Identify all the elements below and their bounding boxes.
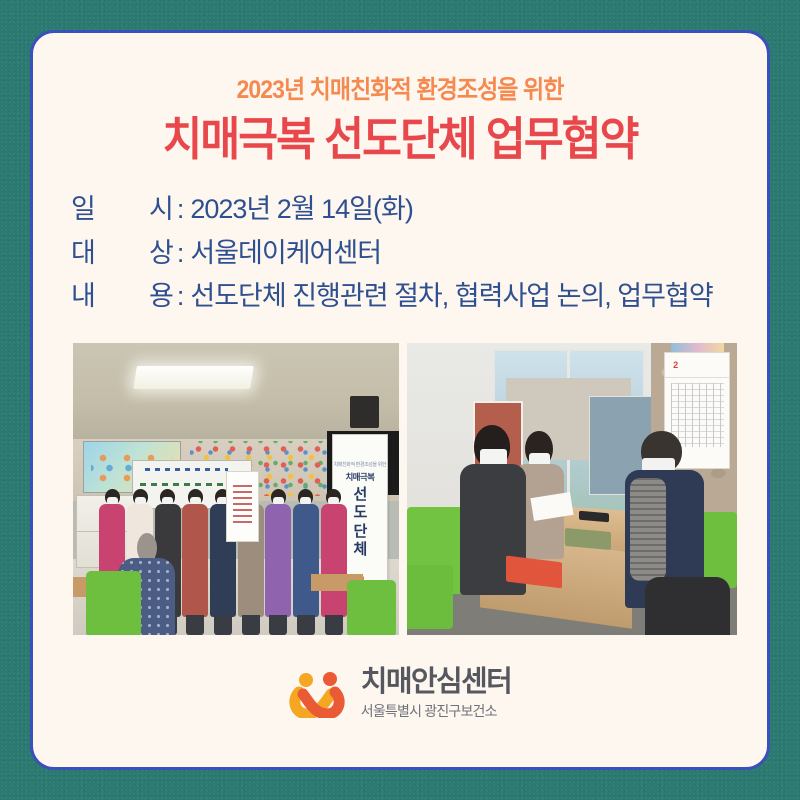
footer-logo: 치매안심센터 서울특별시 광진구보건소	[33, 667, 767, 721]
person	[182, 489, 209, 617]
person-seated-man-right	[625, 431, 704, 600]
detail-label: 내	[71, 275, 149, 319]
poster-heading: 2023년 치매친화적 환경조성을 위한 치매극복 선도단체 업무협약	[33, 75, 767, 170]
wall-speaker	[350, 396, 379, 428]
detail-colon: :	[173, 188, 191, 232]
poster-subtitle: 2023년 치매친화적 환경조성을 위한	[62, 75, 737, 106]
calendar-month: 2	[665, 353, 729, 378]
detail-list: 일 시 : 2023년 2월 14일(화) 대 상 : 서울데이케어센터 내 용…	[71, 188, 713, 319]
detail-value: 선도단체 진행관련 절차, 협력사업 논의, 업무협약	[190, 275, 712, 319]
detail-label: 일	[71, 188, 149, 232]
banner-headline: 선도단체	[353, 486, 366, 559]
logo-subtitle: 서울특별시 광진구보건소	[361, 701, 511, 721]
detail-row: 내 용 : 선도단체 진행관련 절차, 협력사업 논의, 업무협약	[71, 275, 713, 319]
detail-value: 2023년 2월 14일(화)	[190, 188, 712, 232]
person	[320, 489, 347, 617]
group-photo-daycare-center: 치매친화적 환경조성을 위한 치매극복 선도단체 치매안심센터	[73, 343, 399, 635]
detail-row: 대 상 : 서울데이케어센터	[71, 232, 713, 276]
green-chair	[347, 580, 396, 635]
detail-colon: :	[173, 275, 191, 319]
banner-keyword: 치매극복	[345, 471, 374, 483]
office-chair-back	[645, 577, 731, 635]
meeting-photo-desk: 2	[407, 343, 737, 635]
detail-key: 시	[149, 188, 173, 232]
green-folder	[565, 528, 611, 550]
detail-key: 상	[149, 232, 173, 276]
person	[293, 489, 320, 617]
certificate-document	[226, 471, 259, 541]
poster-title: 치매극복 선도단체 업무협약	[55, 110, 745, 170]
detail-colon: :	[173, 232, 191, 276]
detail-key: 용	[149, 275, 173, 319]
detail-label: 대	[71, 232, 149, 276]
detail-value: 서울데이케어센터	[190, 232, 712, 276]
poster-card: 2023년 치매친화적 환경조성을 위한 치매극복 선도단체 업무협약 일 시 …	[30, 30, 770, 770]
banner-top-line: 치매친화적 환경조성을 위한	[334, 461, 386, 468]
detail-row: 일 시 : 2023년 2월 14일(화)	[71, 188, 713, 232]
ceiling-light	[133, 366, 254, 389]
dementia-center-logo-icon	[289, 670, 347, 718]
green-chair	[407, 565, 453, 629]
person	[265, 489, 292, 617]
footer-logo-text: 치매안심센터 서울특별시 광진구보건소	[361, 667, 511, 721]
logo-title: 치매안심센터	[361, 667, 511, 697]
green-chair	[86, 571, 141, 635]
photo-row: 치매친화적 환경조성을 위한 치매극복 선도단체 치매안심센터	[73, 343, 737, 635]
